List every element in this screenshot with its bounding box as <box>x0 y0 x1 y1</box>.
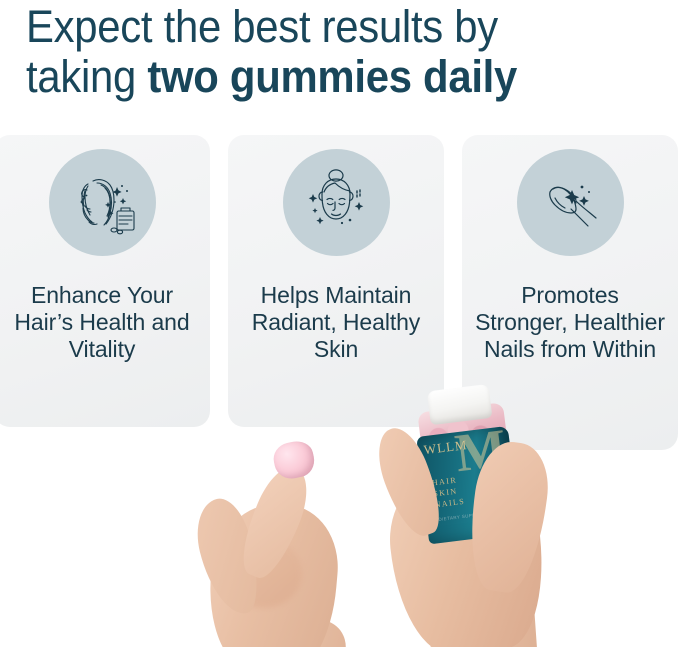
page-headline: Expect the best results by taking two gu… <box>26 2 621 102</box>
headline-regular-text: taking <box>26 51 147 102</box>
hair-profile-bottle-icon <box>49 149 156 256</box>
headline-line-1: Expect the best results by <box>26 2 621 52</box>
hand-holding-gummy <box>196 442 382 647</box>
headline-bold-text: two gummies daily <box>147 51 517 102</box>
hand-holding-bottle: WLLM M HAIRSKINNAILS DIETARY SUPPLEMENT <box>356 390 576 647</box>
fingernail-sparkle-icon <box>517 149 624 256</box>
headline-line-2: taking two gummies daily <box>26 52 621 102</box>
product-photo: WLLM M HAIRSKINNAILS DIETARY SUPPLEMENT <box>0 330 679 647</box>
radiant-face-icon <box>283 149 390 256</box>
